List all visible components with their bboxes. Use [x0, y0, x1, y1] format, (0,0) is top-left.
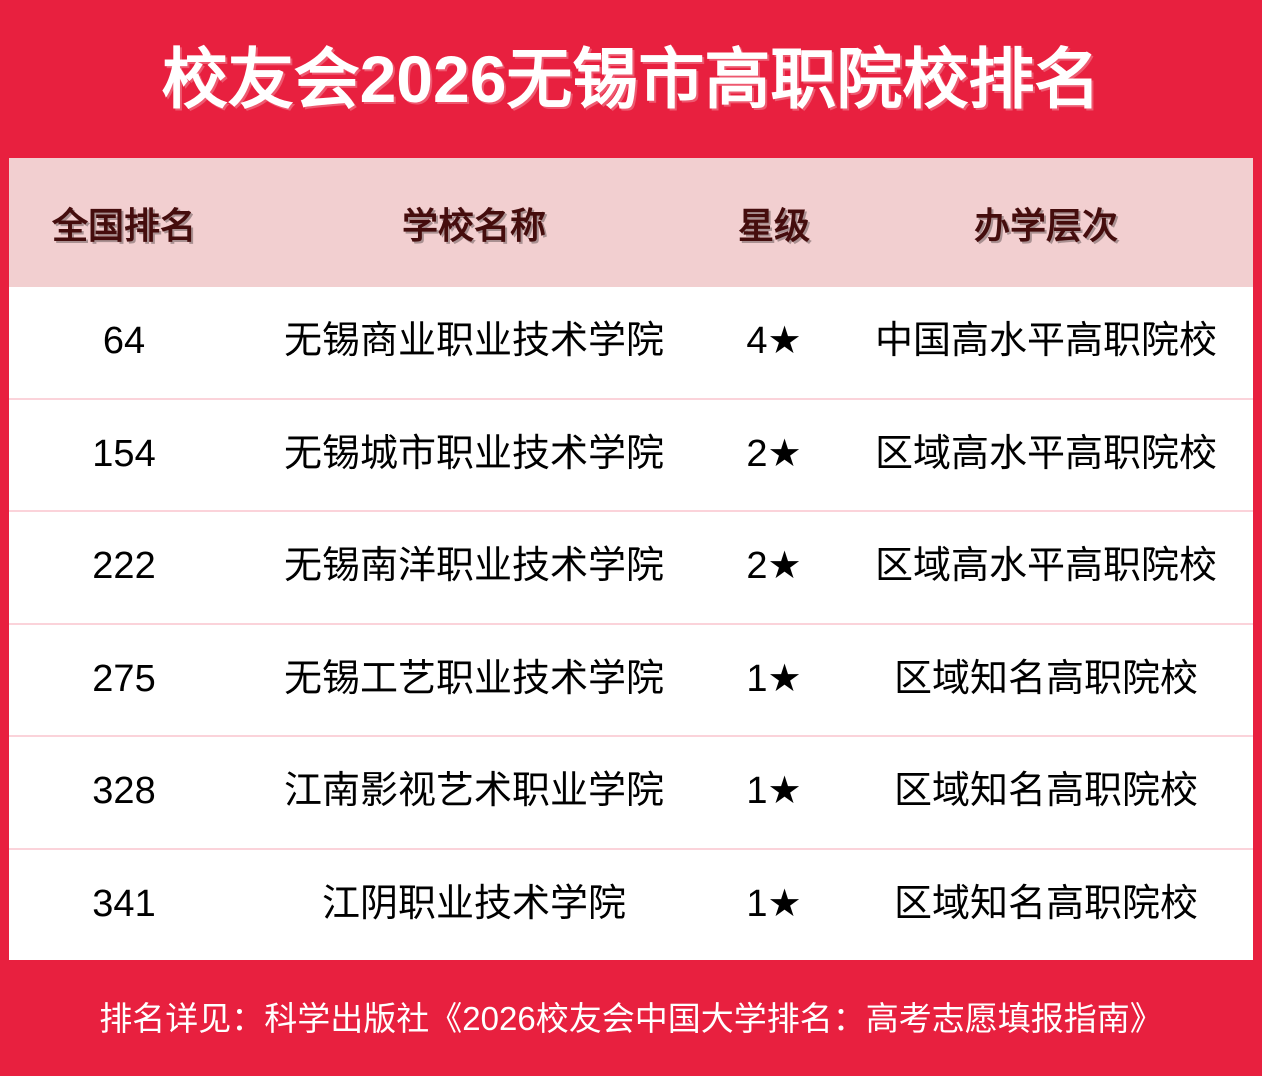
cell-rank: 64 — [9, 321, 239, 363]
source-note: 排名详见：科学出版社《2026校友会中国大学排名：高考志愿填报指南》 — [99, 1002, 1162, 1035]
table-row: 341 江阴职业技术学院 1★ 区域知名高职院校 — [9, 848, 1253, 961]
ranking-poster: 校友会2026无锡市高职院校排名 全国排名 学校名称 星级 办学层次 64 无锡… — [0, 0, 1262, 1076]
cell-rank: 154 — [9, 434, 239, 476]
table-row: 275 无锡工艺职业技术学院 1★ 区域知名高职院校 — [9, 623, 1253, 736]
cell-rank: 222 — [9, 546, 239, 588]
cell-star-rating: 1★ — [709, 771, 839, 813]
table-row: 64 无锡商业职业技术学院 4★ 中国高水平高职院校 — [9, 287, 1253, 398]
cell-star-rating: 2★ — [709, 434, 839, 476]
table-body: 64 无锡商业职业技术学院 4★ 中国高水平高职院校 154 无锡城市职业技术学… — [9, 287, 1253, 960]
cell-level: 中国高水平高职院校 — [839, 321, 1253, 363]
cell-star-rating: 4★ — [709, 321, 839, 363]
cell-school-name: 无锡商业职业技术学院 — [239, 321, 709, 363]
cell-level: 区域知名高职院校 — [839, 884, 1253, 926]
title-banner: 校友会2026无锡市高职院校排名 — [0, 0, 1262, 158]
page-title: 校友会2026无锡市高职院校排名 — [162, 46, 1101, 112]
cell-star-rating: 2★ — [709, 546, 839, 588]
cell-rank: 341 — [9, 884, 239, 926]
cell-school-name: 江南影视艺术职业学院 — [239, 771, 709, 813]
column-header-star-rating: 星级 — [709, 197, 839, 249]
cell-school-name: 无锡工艺职业技术学院 — [239, 659, 709, 701]
footer-banner: 排名详见：科学出版社《2026校友会中国大学排名：高考志愿填报指南》 — [0, 960, 1262, 1076]
cell-rank: 275 — [9, 659, 239, 701]
table-row: 222 无锡南洋职业技术学院 2★ 区域高水平高职院校 — [9, 510, 1253, 623]
table-row: 154 无锡城市职业技术学院 2★ 区域高水平高职院校 — [9, 398, 1253, 511]
cell-level: 区域高水平高职院校 — [839, 434, 1253, 476]
table-header-row: 全国排名 学校名称 星级 办学层次 — [9, 158, 1253, 287]
cell-star-rating: 1★ — [709, 659, 839, 701]
cell-level: 区域知名高职院校 — [839, 771, 1253, 813]
column-header-school-name: 学校名称 — [239, 197, 709, 249]
cell-school-name: 无锡南洋职业技术学院 — [239, 546, 709, 588]
cell-level: 区域高水平高职院校 — [839, 546, 1253, 588]
cell-level: 区域知名高职院校 — [839, 659, 1253, 701]
column-header-level: 办学层次 — [839, 197, 1253, 249]
cell-school-name: 江阴职业技术学院 — [239, 884, 709, 926]
column-header-rank: 全国排名 — [9, 197, 239, 249]
cell-star-rating: 1★ — [709, 884, 839, 926]
ranking-table: 全国排名 学校名称 星级 办学层次 64 无锡商业职业技术学院 4★ 中国高水平… — [9, 158, 1253, 960]
table-row: 328 江南影视艺术职业学院 1★ 区域知名高职院校 — [9, 735, 1253, 848]
cell-school-name: 无锡城市职业技术学院 — [239, 434, 709, 476]
cell-rank: 328 — [9, 771, 239, 813]
